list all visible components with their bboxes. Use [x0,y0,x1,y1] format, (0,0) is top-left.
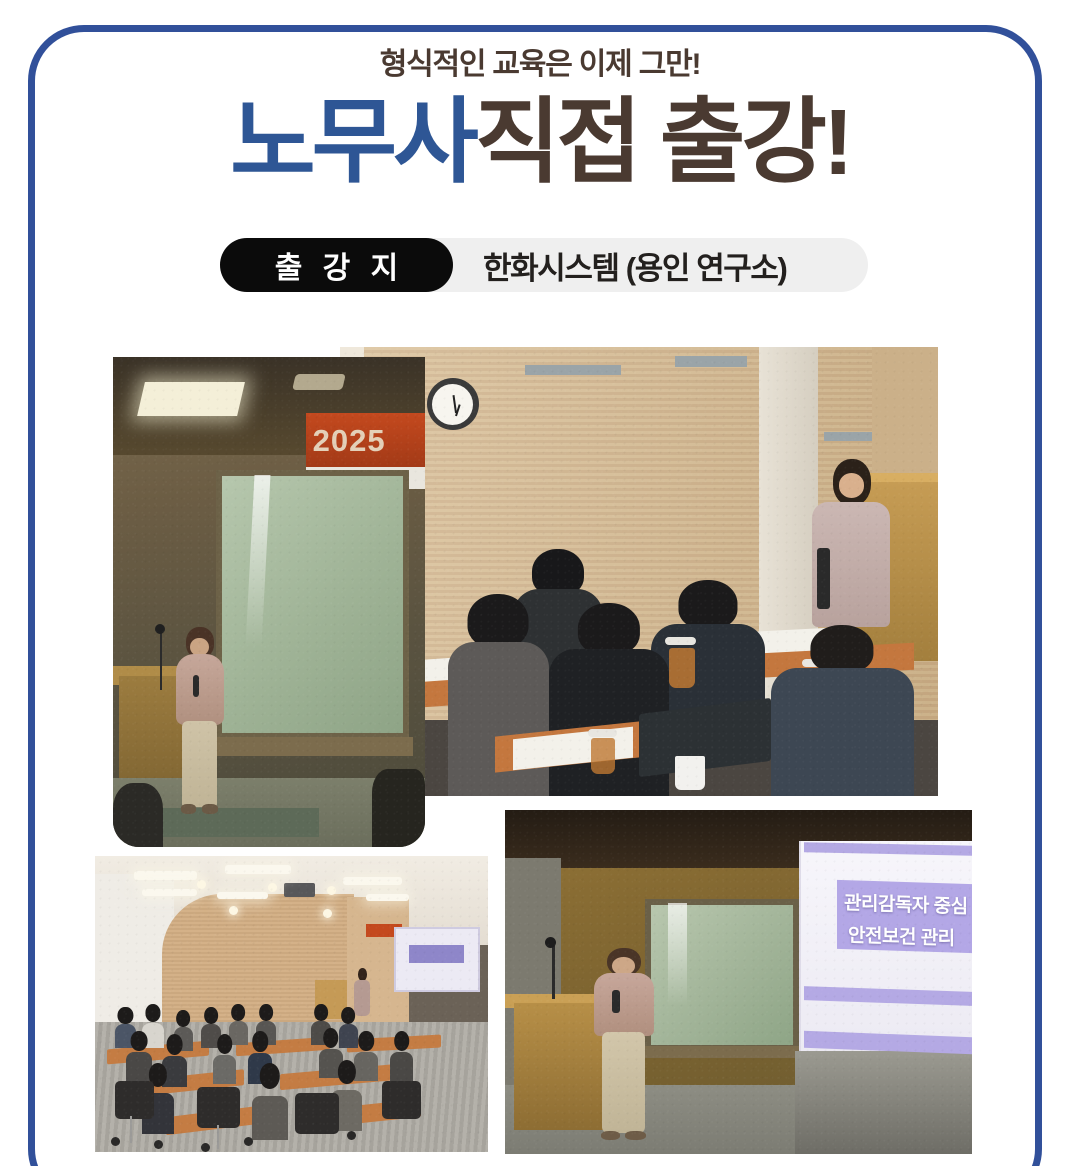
attendee-head [578,603,640,655]
wall-band-2 [525,365,621,375]
slide-title-line2: 안전보건 관리 [848,920,955,950]
drink-lid [665,637,696,645]
ceiling-light-icon [225,865,292,874]
floor-right [795,1051,972,1154]
lecturer-torso [176,654,224,725]
poster-root: 형식적인 교육은 이제 그만! 노무사직접 출강! 출 강 지 한화시스템 (용… [0,0,1080,1166]
attendee-head [678,580,737,628]
chair-leg [130,1116,132,1143]
attendee-head [394,1031,410,1051]
attendee-head [252,1031,268,1052]
lecturer-face [612,957,635,974]
board-sheen [668,903,687,1006]
mic-stand-icon [552,944,555,999]
chair-wheel [347,1131,356,1140]
foreground-silhouette-right [372,769,425,847]
lecturer-shoe-right [625,1131,646,1141]
attendee-seated [771,625,915,796]
attendee-head [204,1007,218,1024]
location-badge: 출 강 지 한화시스템 (용인 연구소) [220,238,820,292]
chair-wheel [111,1137,120,1146]
mic-stand-icon [160,631,162,690]
iced-coffee-cup [591,738,615,774]
attendee-head [217,1034,233,1054]
downlight-icon [197,880,206,889]
lecturer-legs [602,1032,646,1132]
board-ledge [636,1046,809,1058]
badge-value: 한화시스템 (용인 연구소) [453,238,820,292]
attendee-head [314,1004,328,1021]
projected-slide-block [409,945,464,963]
attendee-head [468,594,529,649]
lecturer-torso [594,973,655,1037]
board-ledge [207,737,413,757]
lecturer-shoe-left [181,804,196,813]
downlight-icon [229,906,238,915]
photo-collage: 2025 [0,0,1080,1166]
attendee-body [213,1055,237,1084]
iced-coffee-cup [669,648,695,688]
drink-lid [588,729,617,737]
photo-lecturer-board: 2025 [113,357,425,847]
handheld-mic-icon [612,990,620,1013]
photo-classroom-wide [95,856,488,1152]
lecturer-shoe-right [202,804,218,813]
foreground-silhouette-left [113,783,163,847]
ceiling-light-secondary-icon [292,374,346,390]
handheld-mic-icon [193,675,198,697]
attendee-body [390,1052,414,1081]
attendee-head [232,1004,246,1021]
mic-head-icon [155,624,165,634]
attendee-head [177,1010,191,1027]
downlight-icon [268,883,277,892]
lecturer-shoe-left [601,1131,620,1141]
attendee-head [259,1004,273,1021]
banner-year-text: 2025 [313,423,386,459]
speaker-head [358,968,367,980]
attendee-head [342,1007,356,1024]
ceiling-light-icon [217,892,268,899]
attendee-head [166,1034,183,1055]
photo-lecturer-slide: 관리감독자 중심 안전보건 관리 [505,810,972,1154]
ceiling-light-icon [134,871,197,880]
green-board [216,470,409,740]
attendee-head [337,1060,355,1084]
chair-back [115,1081,154,1119]
lecturer-figure [175,627,225,813]
floor-mat [138,808,319,837]
attendee [390,1031,414,1081]
attendee-head [811,625,874,673]
attendee-body [252,1096,287,1141]
paper-cup [675,756,705,790]
chair-back [295,1093,338,1134]
slide-title-line1: 관리감독자 중심 [844,888,968,919]
attendee-head [323,1028,339,1048]
chair-back [382,1081,421,1119]
instructor-mic-icon [817,548,829,609]
wall-band-3 [675,356,747,367]
attendee-head [358,1031,374,1051]
lecturer-legs [182,721,217,807]
attendee-head [118,1007,133,1024]
attendee-body [771,668,915,796]
chair-leg [217,1125,219,1149]
chair-back [197,1087,240,1128]
projector-icon [284,883,315,898]
ceiling-light-icon [366,894,409,901]
attendee [252,1063,287,1140]
lecturer-figure [594,948,655,1141]
attendee-head [260,1063,281,1089]
attendee-head [131,1031,148,1051]
ceiling-light-icon [137,382,245,416]
photo-audience-instructor [340,347,938,796]
badge-label: 출 강 지 [220,238,453,292]
ceiling-light-icon [142,889,197,897]
attendee-head [145,1004,160,1022]
ceiling-light-icon [343,877,402,885]
instructor-face [839,473,865,497]
wall-band-4 [824,432,872,441]
attendee [213,1034,237,1084]
downlight-icon [327,886,336,895]
attendee-body [448,642,550,796]
clock-face [432,384,473,425]
